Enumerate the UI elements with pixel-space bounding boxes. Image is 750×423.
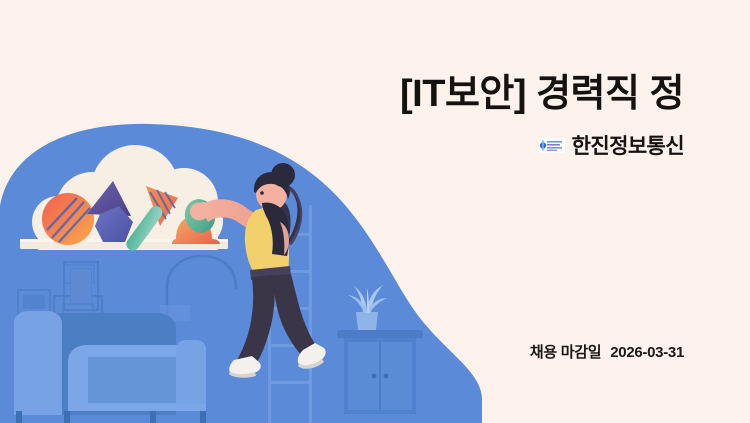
cabinet xyxy=(337,330,423,414)
hanjin-logo-icon xyxy=(539,138,565,153)
deadline-row: 채용 마감일 2026-03-31 xyxy=(530,341,684,362)
company-name: 한진정보통신 xyxy=(572,130,684,160)
eye xyxy=(260,191,264,195)
deadline-label: 채용 마감일 xyxy=(530,341,601,362)
shelf-object-orange-striped-ball xyxy=(42,193,94,245)
hair-bun xyxy=(271,163,295,187)
job-posting-banner: [IT보안] 경력직 정 한진정보통신 채용 마감일 2026-03-31 xyxy=(0,0,750,423)
deadline-date: 2026-03-31 xyxy=(610,344,684,361)
company-row: 한진정보통신 xyxy=(539,130,684,160)
page-title: [IT보안] 경력직 정 xyxy=(400,74,684,116)
